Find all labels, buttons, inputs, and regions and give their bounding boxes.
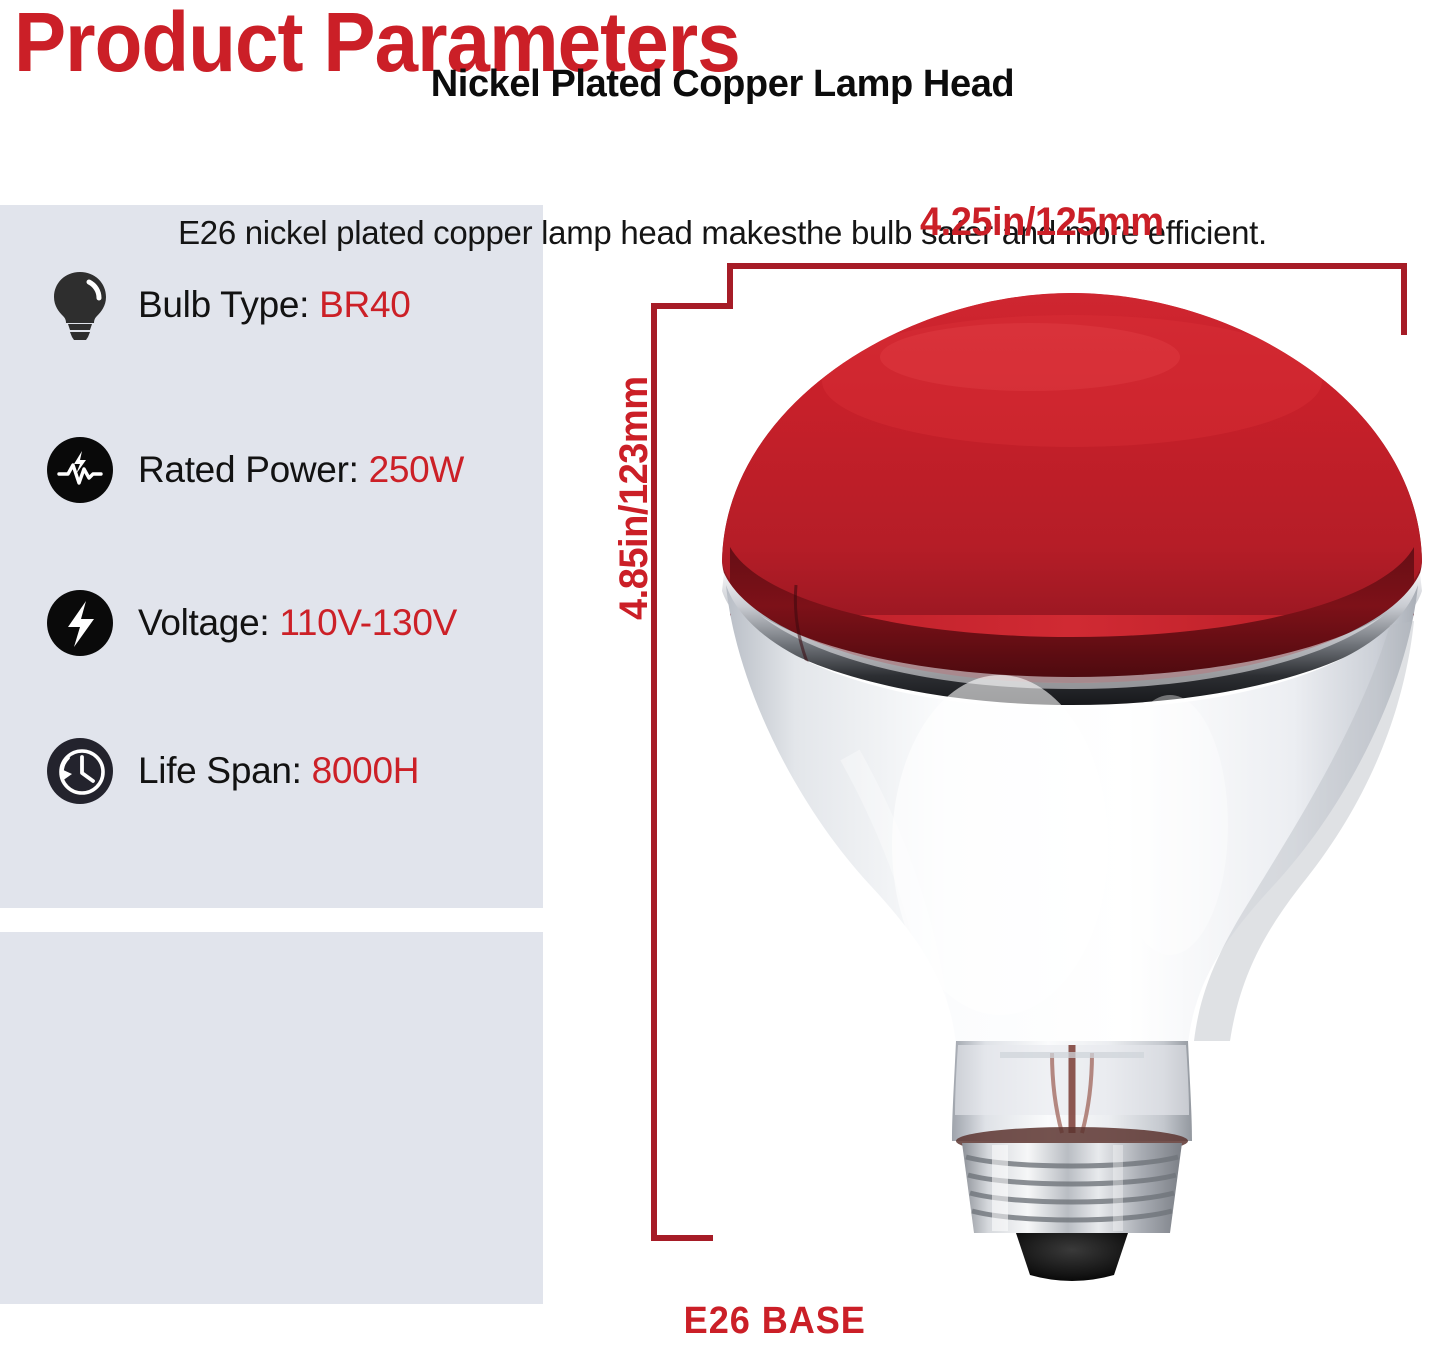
dimension-line-horizontal xyxy=(727,263,1407,269)
base-type-label: E26 BASE xyxy=(36,1300,1409,1343)
lamp-head-info-card xyxy=(0,932,543,1304)
e26-screw-base xyxy=(962,1143,1182,1281)
base-type-label-text: E26 BASE xyxy=(579,1300,866,1342)
dimension-connector xyxy=(651,303,733,309)
spec-row-rated-power: Rated Power: 250W xyxy=(44,435,464,505)
dimension-label-width: 4.25in/125mm xyxy=(920,200,1164,245)
spec-text-life-span: Life Span: 8000H xyxy=(138,750,419,792)
spec-value-bulb-type: BR40 xyxy=(319,284,410,325)
product-parameters-infographic: Product Parameters Bulb Type: BR40 xyxy=(0,0,1445,1370)
spec-row-life-span: Life Span: 8000H xyxy=(44,736,419,806)
spec-label-voltage: Voltage: xyxy=(138,602,269,643)
info-card-body: E26 nickel plated copper lamp head makes… xyxy=(0,212,1445,255)
clock-history-icon xyxy=(44,735,116,807)
lightning-bolt-icon xyxy=(44,587,116,659)
spec-text-bulb-type: Bulb Type: BR40 xyxy=(138,284,411,326)
spec-label-life-span: Life Span: xyxy=(138,750,302,791)
lightbulb-icon xyxy=(44,269,116,341)
dimension-label-height: 4.85in/123mm xyxy=(612,376,657,620)
spec-text-rated-power: Rated Power: 250W xyxy=(138,449,464,491)
spec-label-bulb-type: Bulb Type: xyxy=(138,284,309,325)
bulb-red-dome xyxy=(700,293,1445,705)
info-card-title: Nickel Plated Copper Lamp Head xyxy=(0,62,1445,107)
dimension-tick-bottom xyxy=(651,1235,713,1241)
spec-row-voltage: Voltage: 110V-130V xyxy=(44,588,457,658)
bulb-illustration xyxy=(700,285,1445,1285)
bulb-glass-neck xyxy=(952,1041,1192,1155)
spec-value-voltage: 110V-130V xyxy=(279,602,457,643)
power-waveform-icon xyxy=(44,434,116,506)
spec-value-rated-power: 250W xyxy=(369,449,464,490)
dimension-tick-right xyxy=(1401,263,1407,335)
spec-row-bulb-type: Bulb Type: BR40 xyxy=(44,270,411,340)
spec-value-life-span: 8000H xyxy=(312,750,420,791)
spec-label-rated-power: Rated Power: xyxy=(138,449,359,490)
spec-text-voltage: Voltage: 110V-130V xyxy=(138,602,457,644)
